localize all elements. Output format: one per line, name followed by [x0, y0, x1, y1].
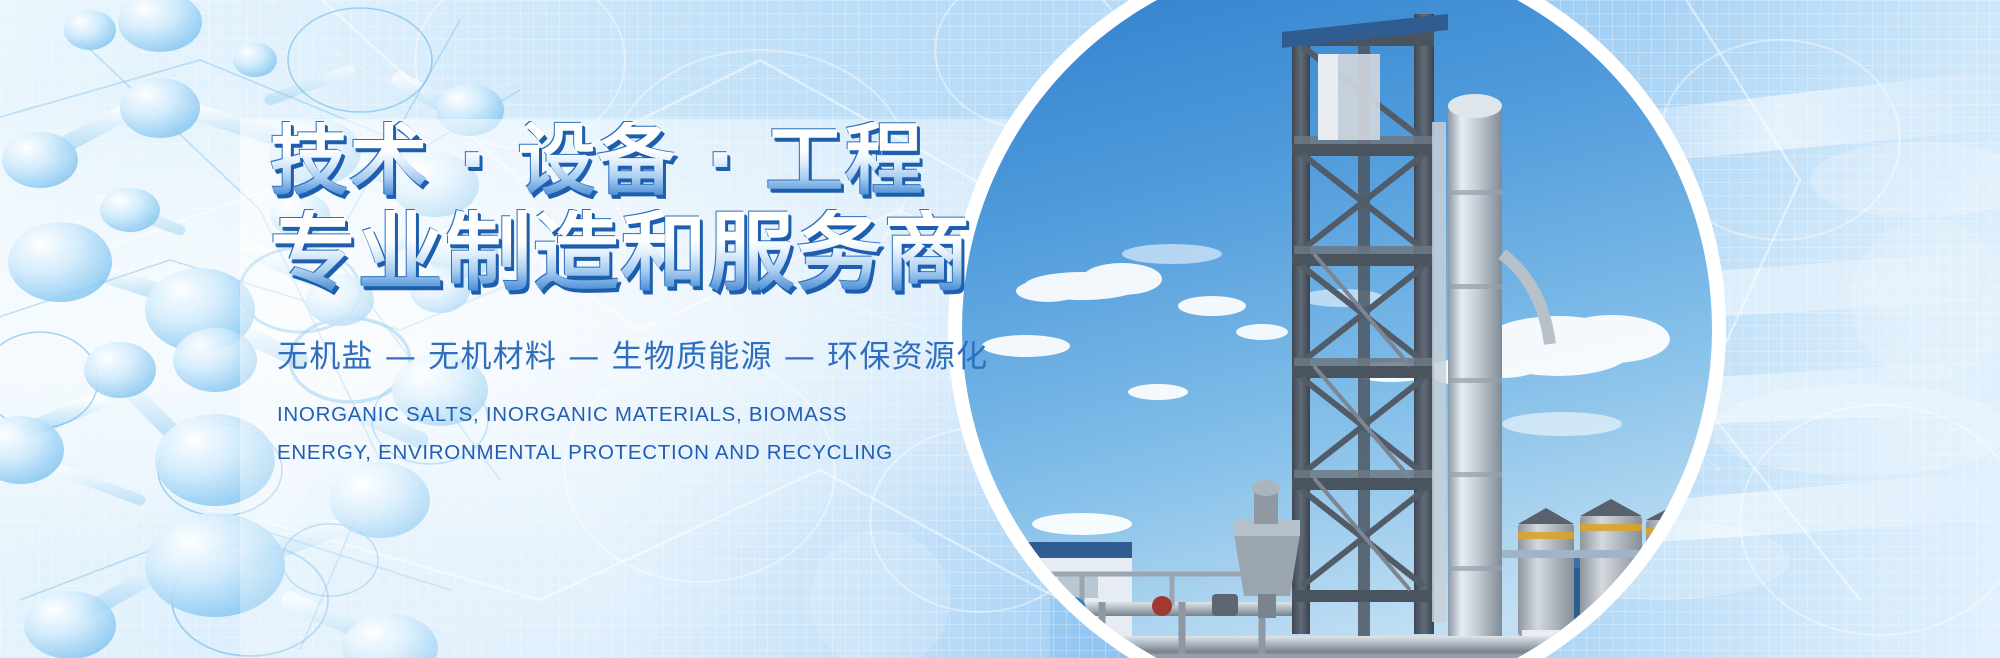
- copy-block: 技术 · 设备 · 工程 专业制造和服务商 无机盐 — 无机材料 — 生物质能源…: [270, 122, 1030, 472]
- industrial-plant-illustration: [962, 0, 1712, 658]
- plant-photo: [962, 0, 1712, 658]
- headline-line-2-text: 专业制造和服务商: [270, 210, 972, 298]
- headline-line-1-text: 技术 · 设备 · 工程: [270, 122, 925, 202]
- headline-line-2: 专业制造和服务商: [270, 210, 1030, 298]
- hero-banner: 技术 · 设备 · 工程 专业制造和服务商 无机盐 — 无机材料 — 生物质能源…: [0, 0, 2000, 658]
- subtitle-chinese: 无机盐 — 无机材料 — 生物质能源 — 环保资源化: [277, 331, 1030, 376]
- headline-line-1: 技术 · 设备 · 工程: [270, 122, 1030, 202]
- subtitle-english: INORGANIC SALTS, INORGANIC MATERIALS, BI…: [277, 396, 937, 472]
